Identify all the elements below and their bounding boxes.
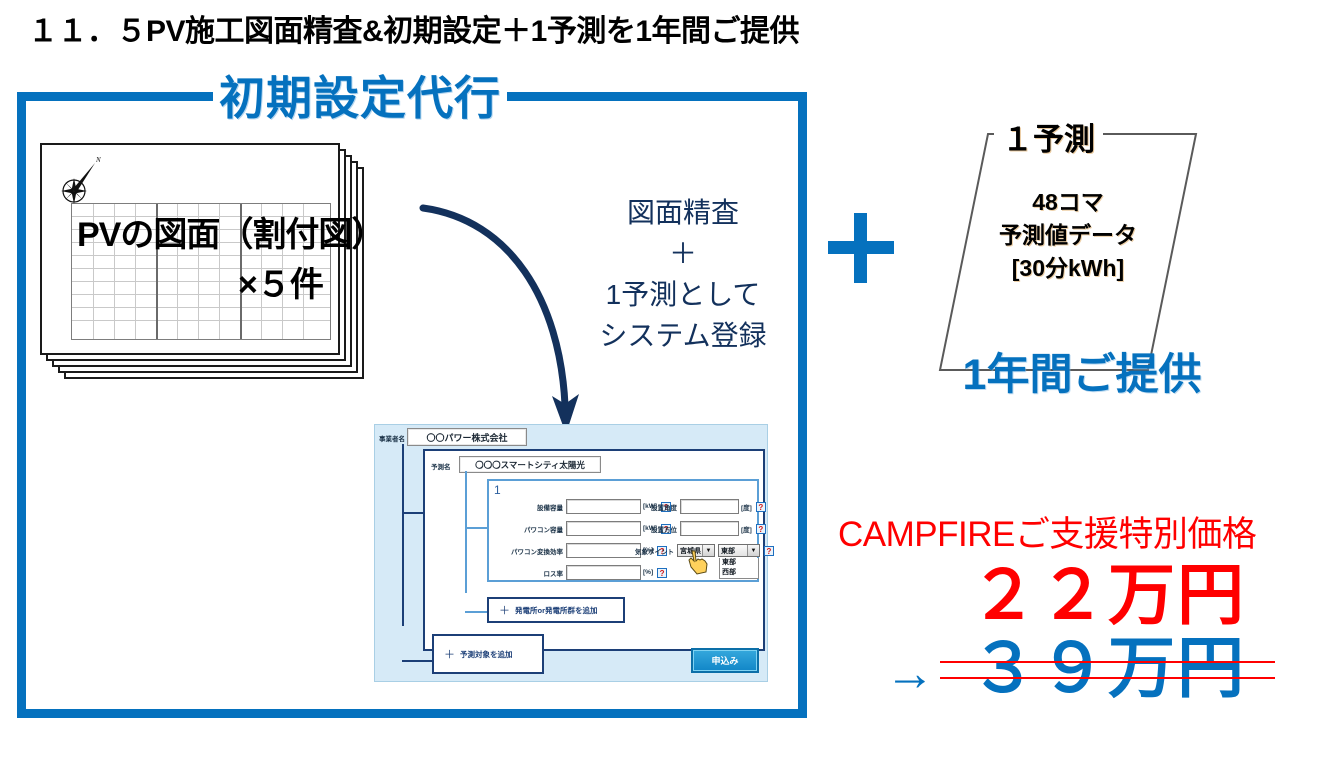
field-label-weather-point: 気象ポイント bbox=[628, 546, 674, 556]
forecast-data-parallelogram: １予測 48コマ予測値データ[30分kWh] bbox=[938, 128, 1198, 376]
tree-line bbox=[402, 660, 432, 662]
parallelogram-title: １予測 bbox=[994, 114, 1103, 159]
tree-line bbox=[402, 444, 404, 626]
field-input-tilt-angle[interactable] bbox=[680, 499, 739, 514]
plus-icon: ＋ bbox=[444, 646, 455, 662]
help-icon[interactable]: ? bbox=[657, 568, 667, 578]
one-year-label: 1年間ご提供 bbox=[917, 340, 1247, 402]
plant-group-panel: 1 設備容量 [kW] ? パワコン容量 [kW] ? パワコン変換効率 [%]… bbox=[487, 479, 759, 582]
tree-line bbox=[465, 611, 487, 613]
field-input-pcs-capacity[interactable] bbox=[566, 521, 641, 536]
add-plant-button[interactable]: ＋ 発電所or発電所群を追加 bbox=[487, 597, 625, 623]
field-input-azimuth[interactable] bbox=[680, 521, 739, 536]
field-unit-loss-rate: [%] bbox=[643, 569, 653, 576]
add-target-button[interactable]: ＋ 予測対象を追加 bbox=[432, 634, 544, 674]
field-unit-tilt-angle: [度] bbox=[741, 502, 752, 512]
field-label-pcs-capacity: パワコン容量 bbox=[503, 524, 563, 534]
field-label-capacity: 設備容量 bbox=[503, 502, 563, 512]
parallelogram-body: 48コマ予測値データ[30分kWh] bbox=[938, 186, 1198, 285]
business-name-label: 事業者名 bbox=[379, 433, 405, 443]
hand-cursor-icon bbox=[686, 547, 712, 577]
forecast-name-field[interactable]: 〇〇〇スマートシティ太陽光 bbox=[459, 456, 601, 473]
page-title: １１．５PV施工図面精査&初期設定＋1予測を1年間ご提供 bbox=[28, 6, 799, 50]
drawing-label: PVの図面（割付図） bbox=[77, 207, 384, 256]
tree-line bbox=[465, 471, 467, 593]
strikethrough-line bbox=[940, 677, 1275, 679]
tree-line bbox=[402, 512, 425, 514]
field-label-pcs-efficiency: パワコン変換効率 bbox=[503, 546, 563, 556]
add-plant-button-label: 発電所or発電所群を追加 bbox=[515, 605, 598, 616]
field-label-loss-rate: ロス率 bbox=[503, 568, 563, 578]
field-input-loss-rate[interactable] bbox=[566, 565, 641, 580]
strikethrough-line bbox=[940, 661, 1275, 663]
field-input-capacity[interactable] bbox=[566, 499, 641, 514]
drawing-count: ×５件 bbox=[238, 257, 323, 306]
field-label-tilt-angle: 設置角度 bbox=[641, 502, 677, 512]
dropdown-option-1[interactable]: 西部 bbox=[720, 568, 758, 578]
pv-drawing-stack: N bbox=[40, 143, 370, 388]
compass-rose-icon: N bbox=[56, 151, 114, 211]
process-description-text: 図面精査＋1予測としてシステム登録 bbox=[578, 192, 788, 356]
price-arrow-icon: → bbox=[885, 648, 935, 698]
flow-arrow-icon bbox=[415, 190, 605, 440]
dropdown-option-0[interactable]: 東部 bbox=[720, 558, 758, 568]
submit-button[interactable]: 申込み bbox=[691, 648, 759, 673]
add-target-button-label: 予測対象を追加 bbox=[460, 649, 513, 660]
weather-area-dropdown[interactable]: 東部 西部 bbox=[719, 558, 759, 579]
frame-title: 初期設定代行 bbox=[213, 72, 507, 124]
chevron-down-icon[interactable]: ▼ bbox=[747, 545, 759, 556]
help-icon[interactable]: ? bbox=[756, 524, 766, 534]
forecast-target-panel: 予測名 〇〇〇スマートシティ太陽光 1 設備容量 [kW] ? パワコン容量 [… bbox=[423, 449, 765, 651]
field-unit-azimuth: [度] bbox=[741, 524, 752, 534]
weather-area-value: 東部 bbox=[721, 546, 735, 556]
forecast-name-label: 予測名 bbox=[431, 461, 451, 471]
help-icon[interactable]: ? bbox=[764, 546, 774, 556]
help-icon[interactable]: ? bbox=[756, 502, 766, 512]
tree-line bbox=[465, 527, 487, 529]
drawing-sheet-front: N bbox=[40, 143, 340, 355]
price-old-group: → ３９万円 bbox=[885, 620, 1285, 710]
plus-icon: ＋ bbox=[499, 602, 510, 618]
field-label-azimuth: 設置方位 bbox=[641, 524, 677, 534]
process-description: 図面精査＋1予測としてシステム登録 bbox=[578, 192, 788, 356]
forecast-registration-form[interactable]: 事業者名 〇〇パワー株式会社 予測名 〇〇〇スマートシティ太陽光 1 設備容量 … bbox=[374, 424, 768, 682]
weather-area-select[interactable]: 東部 ▼ 東部 西部 bbox=[718, 544, 760, 557]
compass-north-label: N bbox=[95, 156, 101, 164]
business-name-field[interactable]: 〇〇パワー株式会社 bbox=[407, 428, 527, 446]
plant-group-index: 1 bbox=[494, 483, 501, 497]
